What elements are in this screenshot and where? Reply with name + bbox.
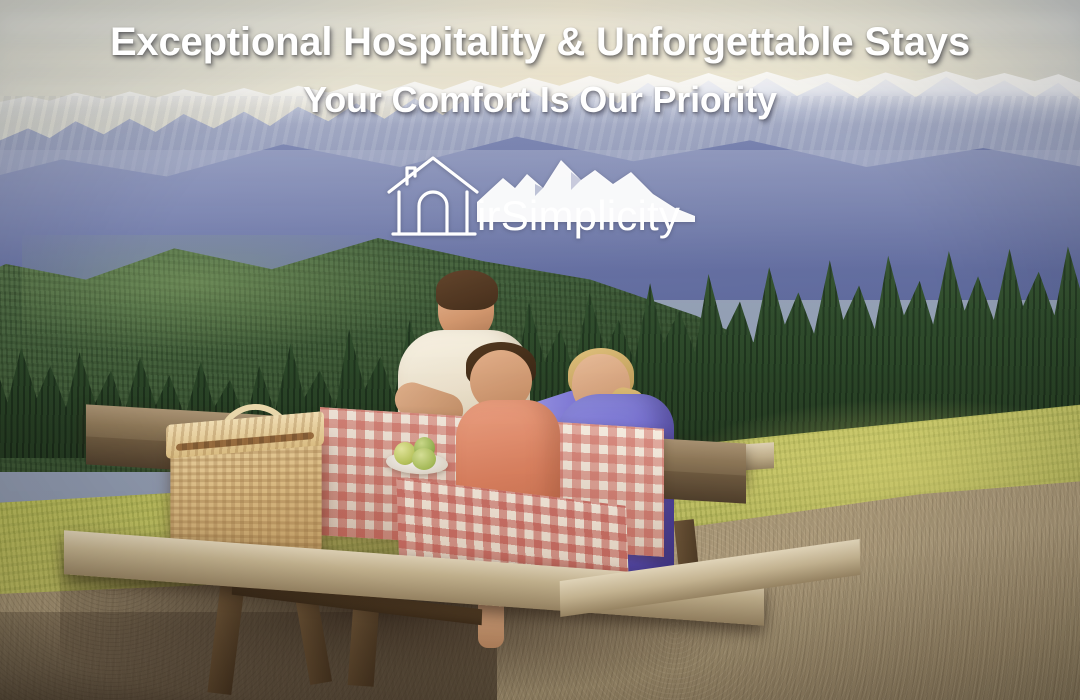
- hero-banner: Exceptional Hospitality & Unforgettable …: [0, 0, 1080, 700]
- airsimplicity-logo-icon: irSimplicity: [385, 150, 695, 246]
- man-hair: [436, 270, 498, 310]
- picnic-scene: [0, 0, 1080, 700]
- logo-wordmark: irSimplicity: [477, 192, 680, 239]
- house-outline-mark: [389, 158, 477, 234]
- green-apple: [412, 448, 436, 470]
- brand-logo[interactable]: irSimplicity: [385, 150, 695, 246]
